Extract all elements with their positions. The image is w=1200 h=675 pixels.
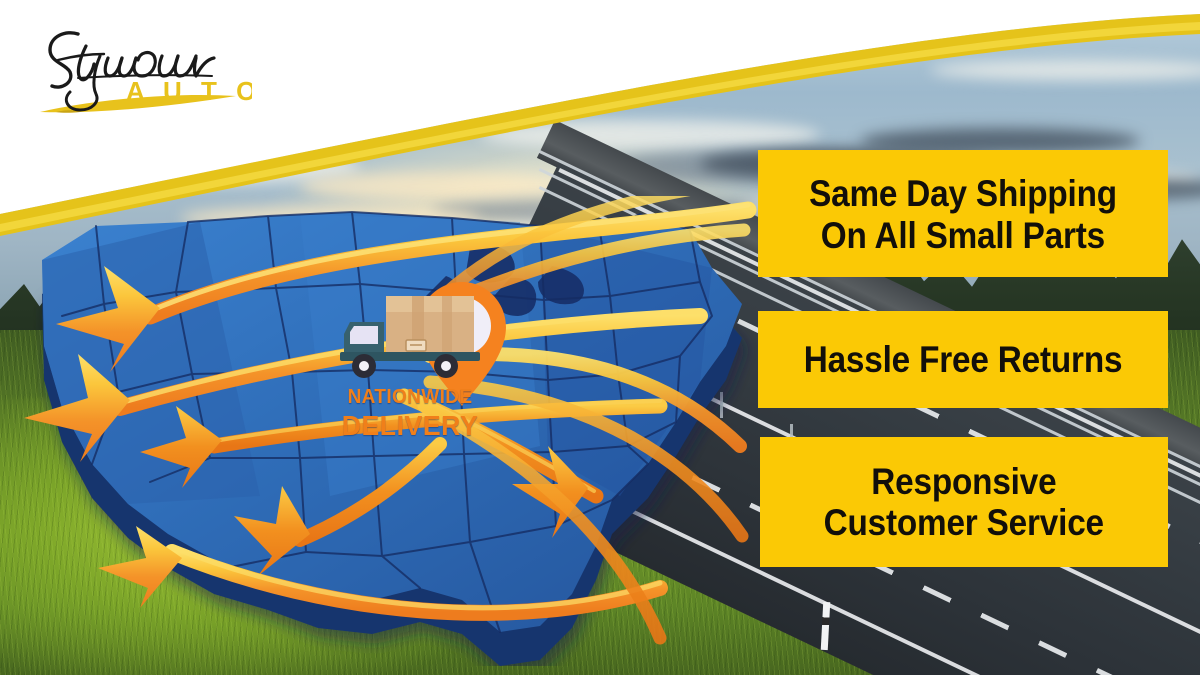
callout-hassle-free-returns[interactable]: Hassle Free Returns (758, 311, 1168, 408)
callout-same-day-shipping[interactable]: Same Day Shipping On All Small Parts (758, 150, 1168, 277)
callout-line: Responsive (871, 461, 1056, 502)
logo-auto-text: A U T O (126, 76, 252, 106)
callout-line: On All Small Parts (821, 215, 1105, 256)
callout-responsive-customer-service[interactable]: Responsive Customer Service (760, 437, 1168, 567)
brand-logo[interactable]: A U T O (22, 14, 252, 124)
promo-banner: NATIONWIDE DELIVERY Same Day Shipping On… (0, 0, 1200, 675)
callout-line: Hassle Free Returns (804, 339, 1123, 380)
callout-line: Customer Service (824, 502, 1104, 543)
callout-line: Same Day Shipping (809, 173, 1117, 214)
svg-text:A U T O: A U T O (126, 76, 252, 106)
